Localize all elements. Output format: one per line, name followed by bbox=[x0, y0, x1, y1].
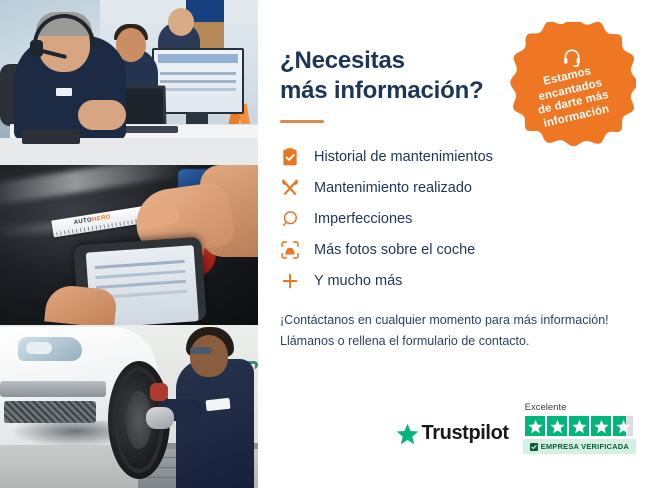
contact-text: ¡Contáctanos en cualquier momento para m… bbox=[280, 310, 628, 351]
title-divider bbox=[280, 120, 324, 123]
trustpilot-star-icon bbox=[396, 423, 419, 445]
star-filled bbox=[569, 416, 589, 436]
information-banner: AUTOHERO bbox=[0, 0, 650, 488]
clipboard-check-icon bbox=[280, 147, 314, 167]
star-rating bbox=[525, 416, 633, 436]
page-title: ¿Necesitas más información? bbox=[280, 46, 510, 106]
contact-line-1: ¡Contáctanos en cualquier momento para m… bbox=[280, 310, 628, 330]
star-filled bbox=[591, 416, 611, 436]
photo-column: AUTOHERO bbox=[0, 0, 258, 488]
headline-line-2: más información? bbox=[280, 77, 484, 104]
trustpilot-score-block: Excelente bbox=[523, 402, 636, 454]
headline-line-1: ¿Necesitas bbox=[280, 47, 405, 74]
ruler-brand-part1: AUTO bbox=[73, 217, 92, 226]
feature-item-fotos: Más fotos sobre el coche bbox=[280, 234, 628, 265]
contact-line-2: Llámanos o rellena el formulario de cont… bbox=[280, 331, 628, 351]
feature-item-mantenimiento: Mantenimiento realizado bbox=[280, 172, 628, 203]
feature-label: Mantenimiento realizado bbox=[314, 180, 472, 196]
feature-item-mas: Y mucho más bbox=[280, 265, 628, 296]
trustpilot-brand-name: Trustpilot bbox=[422, 422, 509, 445]
verified-label: EMPRESA VERIFICADA bbox=[541, 442, 629, 451]
inspection-ruler-tablet-photo: AUTOHERO bbox=[0, 165, 258, 325]
feature-item-imperfecciones: Imperfecciones bbox=[280, 203, 628, 234]
plus-icon bbox=[280, 271, 314, 291]
feature-label: Y mucho más bbox=[314, 273, 402, 289]
feature-list: Historial de mantenimientos Mantenimient… bbox=[280, 141, 628, 296]
mechanic-wheel-photo bbox=[0, 325, 258, 488]
feature-label: Historial de mantenimientos bbox=[314, 149, 493, 165]
trustpilot-rating: Trustpilot Excelente bbox=[280, 402, 636, 454]
rating-label: Excelente bbox=[525, 402, 567, 413]
star-filled bbox=[525, 416, 545, 436]
call-center-agents-photo bbox=[0, 0, 258, 165]
ruler-brand-part2: HERO bbox=[92, 214, 112, 223]
star-partial bbox=[613, 416, 633, 436]
content-panel: ¿Necesitas más información? Estamos enca… bbox=[258, 0, 650, 488]
magnifier-icon bbox=[280, 209, 314, 229]
check-box-icon bbox=[530, 443, 538, 451]
trustpilot-logo: Trustpilot bbox=[396, 422, 509, 454]
star-filled bbox=[547, 416, 567, 436]
feature-label: Más fotos sobre el coche bbox=[314, 242, 475, 258]
car-scan-frame-icon bbox=[280, 240, 314, 260]
tools-cross-icon bbox=[280, 178, 314, 198]
feature-label: Imperfecciones bbox=[314, 211, 412, 227]
starburst-badge: Estamos encantados de darte más informac… bbox=[508, 22, 636, 150]
verified-company-badge: EMPRESA VERIFICADA bbox=[523, 439, 636, 454]
